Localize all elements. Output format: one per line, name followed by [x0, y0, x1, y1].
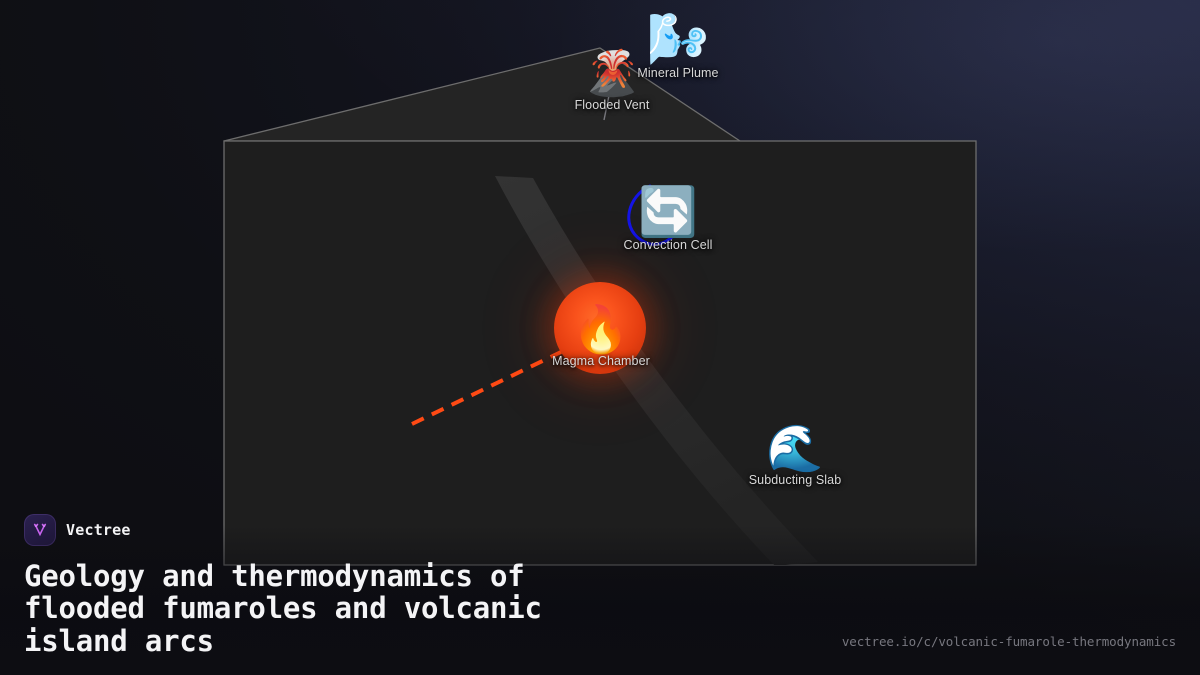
concept-diagram-canvas: 🌋 Flooded Vent 🌬️ Mineral Plume 🔄 Convec… — [0, 0, 1200, 675]
brand-lockup: Vectree — [24, 514, 1176, 546]
wind-cloud-icon: 🌬️ — [647, 14, 709, 64]
node-subducting-slab[interactable]: 🌊 Subducting Slab — [700, 425, 890, 487]
node-mineral-plume[interactable]: 🌬️ Mineral Plume — [583, 14, 773, 80]
arrows-counterclockwise-icon: 🔄 — [638, 188, 698, 236]
fire-icon: 🔥 — [572, 306, 629, 352]
footer: Vectree Geology and thermodynamics of fl… — [0, 514, 1200, 675]
node-label-flooded-vent: Flooded Vent — [575, 98, 650, 112]
node-label-subducting-slab: Subducting Slab — [749, 473, 842, 487]
source-url: vectree.io/c/volcanic-fumarole-thermodyn… — [842, 634, 1176, 649]
page-title: Geology and thermodynamics of flooded fu… — [24, 560, 724, 657]
ocean-wave-icon: 🌊 — [766, 425, 823, 471]
vectree-logo-icon — [24, 514, 56, 546]
node-label-mineral-plume: Mineral Plume — [637, 66, 718, 80]
node-magma-chamber[interactable]: 🔥 Magma Chamber — [506, 306, 696, 368]
node-label-magma-chamber: Magma Chamber — [552, 354, 650, 368]
node-label-convection-cell: Convection Cell — [623, 238, 712, 252]
brand-name: Vectree — [66, 521, 131, 539]
node-convection-cell[interactable]: 🔄 Convection Cell — [573, 188, 763, 252]
